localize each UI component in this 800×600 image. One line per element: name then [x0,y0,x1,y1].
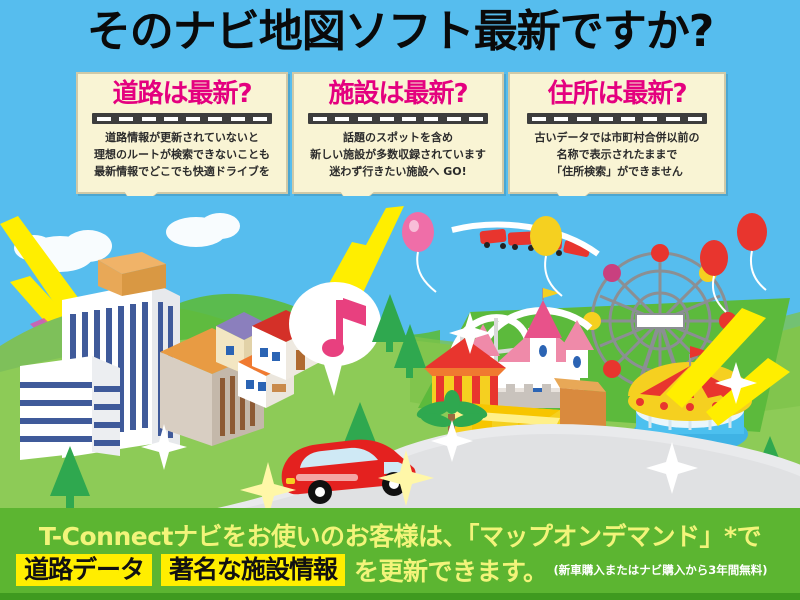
banner-headline: T-Connectナビをお使いのお客様は、「マップオンデマンド」*で [0,517,800,553]
info-box-body: 道路情報が更新されていないと 理想のルートが検索できないことも 最新情報でどこで… [78,129,286,180]
banner-fine-print: (新車購入またはナビ購入から3年間無料) [554,562,768,578]
navigation-map-illustration [0,196,800,508]
road-divider-icon [92,113,272,124]
info-box-body-line: 「住所検索」ができません [514,163,720,180]
info-box-group: 道路は最新? 道路情報が更新されていないと 理想のルートが検索できないことも 最… [0,72,800,212]
banner-subline: 道路データ 著名な施設情報 を更新できます。 (新車購入またはナビ購入から3年間… [0,552,800,588]
info-box-addresses: 住所は最新? 古いデータでは市町村合併以前の 名称で表示されたままで 「住所検索… [508,72,726,194]
page-title: そのナビ地図ソフト最新ですか? [0,8,800,56]
bottom-promo-banner: T-Connectナビをお使いのお客様は、「マップオンデマンド」*で 道路データ… [0,508,800,600]
badge-facility-info: 著名な施設情報 [161,554,345,586]
info-box-title: 道路は最新? [78,81,286,108]
banner-bottom-strip [0,593,800,600]
info-box-body-line: 理想のルートが検索できないことも [82,146,282,163]
info-box-roads: 道路は最新? 道路情報が更新されていないと 理想のルートが検索できないことも 最… [76,72,288,194]
low-rise-building-icon [20,356,120,460]
info-box-title: 住所は最新? [510,81,724,108]
ferris-wheel-hub [636,314,684,328]
info-box-body: 話題のスポットを含め 新しい施設が多数収録されています 迷わず行きたい施設へ G… [294,129,502,180]
info-box-body-line: 新しい施設が多数収録されています [298,146,498,163]
road-divider-icon [527,113,707,124]
info-box-body-line: 話題のスポットを含め [298,129,498,146]
info-box-facilities: 施設は最新? 話題のスポットを含め 新しい施設が多数収録されています 迷わず行き… [292,72,504,194]
scene-svg [0,196,800,508]
info-box-title: 施設は最新? [294,81,502,108]
info-box-body-line: 迷わず行きたい施設へ GO! [298,163,498,180]
info-box-body-line: 道路情報が更新されていないと [82,129,282,146]
road-divider-icon [308,113,488,124]
info-box-body-line: 名称で表示されたままで [514,146,720,163]
info-box-body-line: 古いデータでは市町村合併以前の [514,129,720,146]
advertisement-canvas: そのナビ地図ソフト最新ですか? 道路は最新? 道路情報が更新されていないと 理想… [0,0,800,600]
info-box-body: 古いデータでは市町村合併以前の 名称で表示されたままで 「住所検索」ができません [510,129,724,180]
badge-road-data: 道路データ [16,554,152,586]
banner-tail-text: を更新できます。 [354,552,548,588]
info-box-body-line: 最新情報でどこでも快適ドライブを [82,163,282,180]
